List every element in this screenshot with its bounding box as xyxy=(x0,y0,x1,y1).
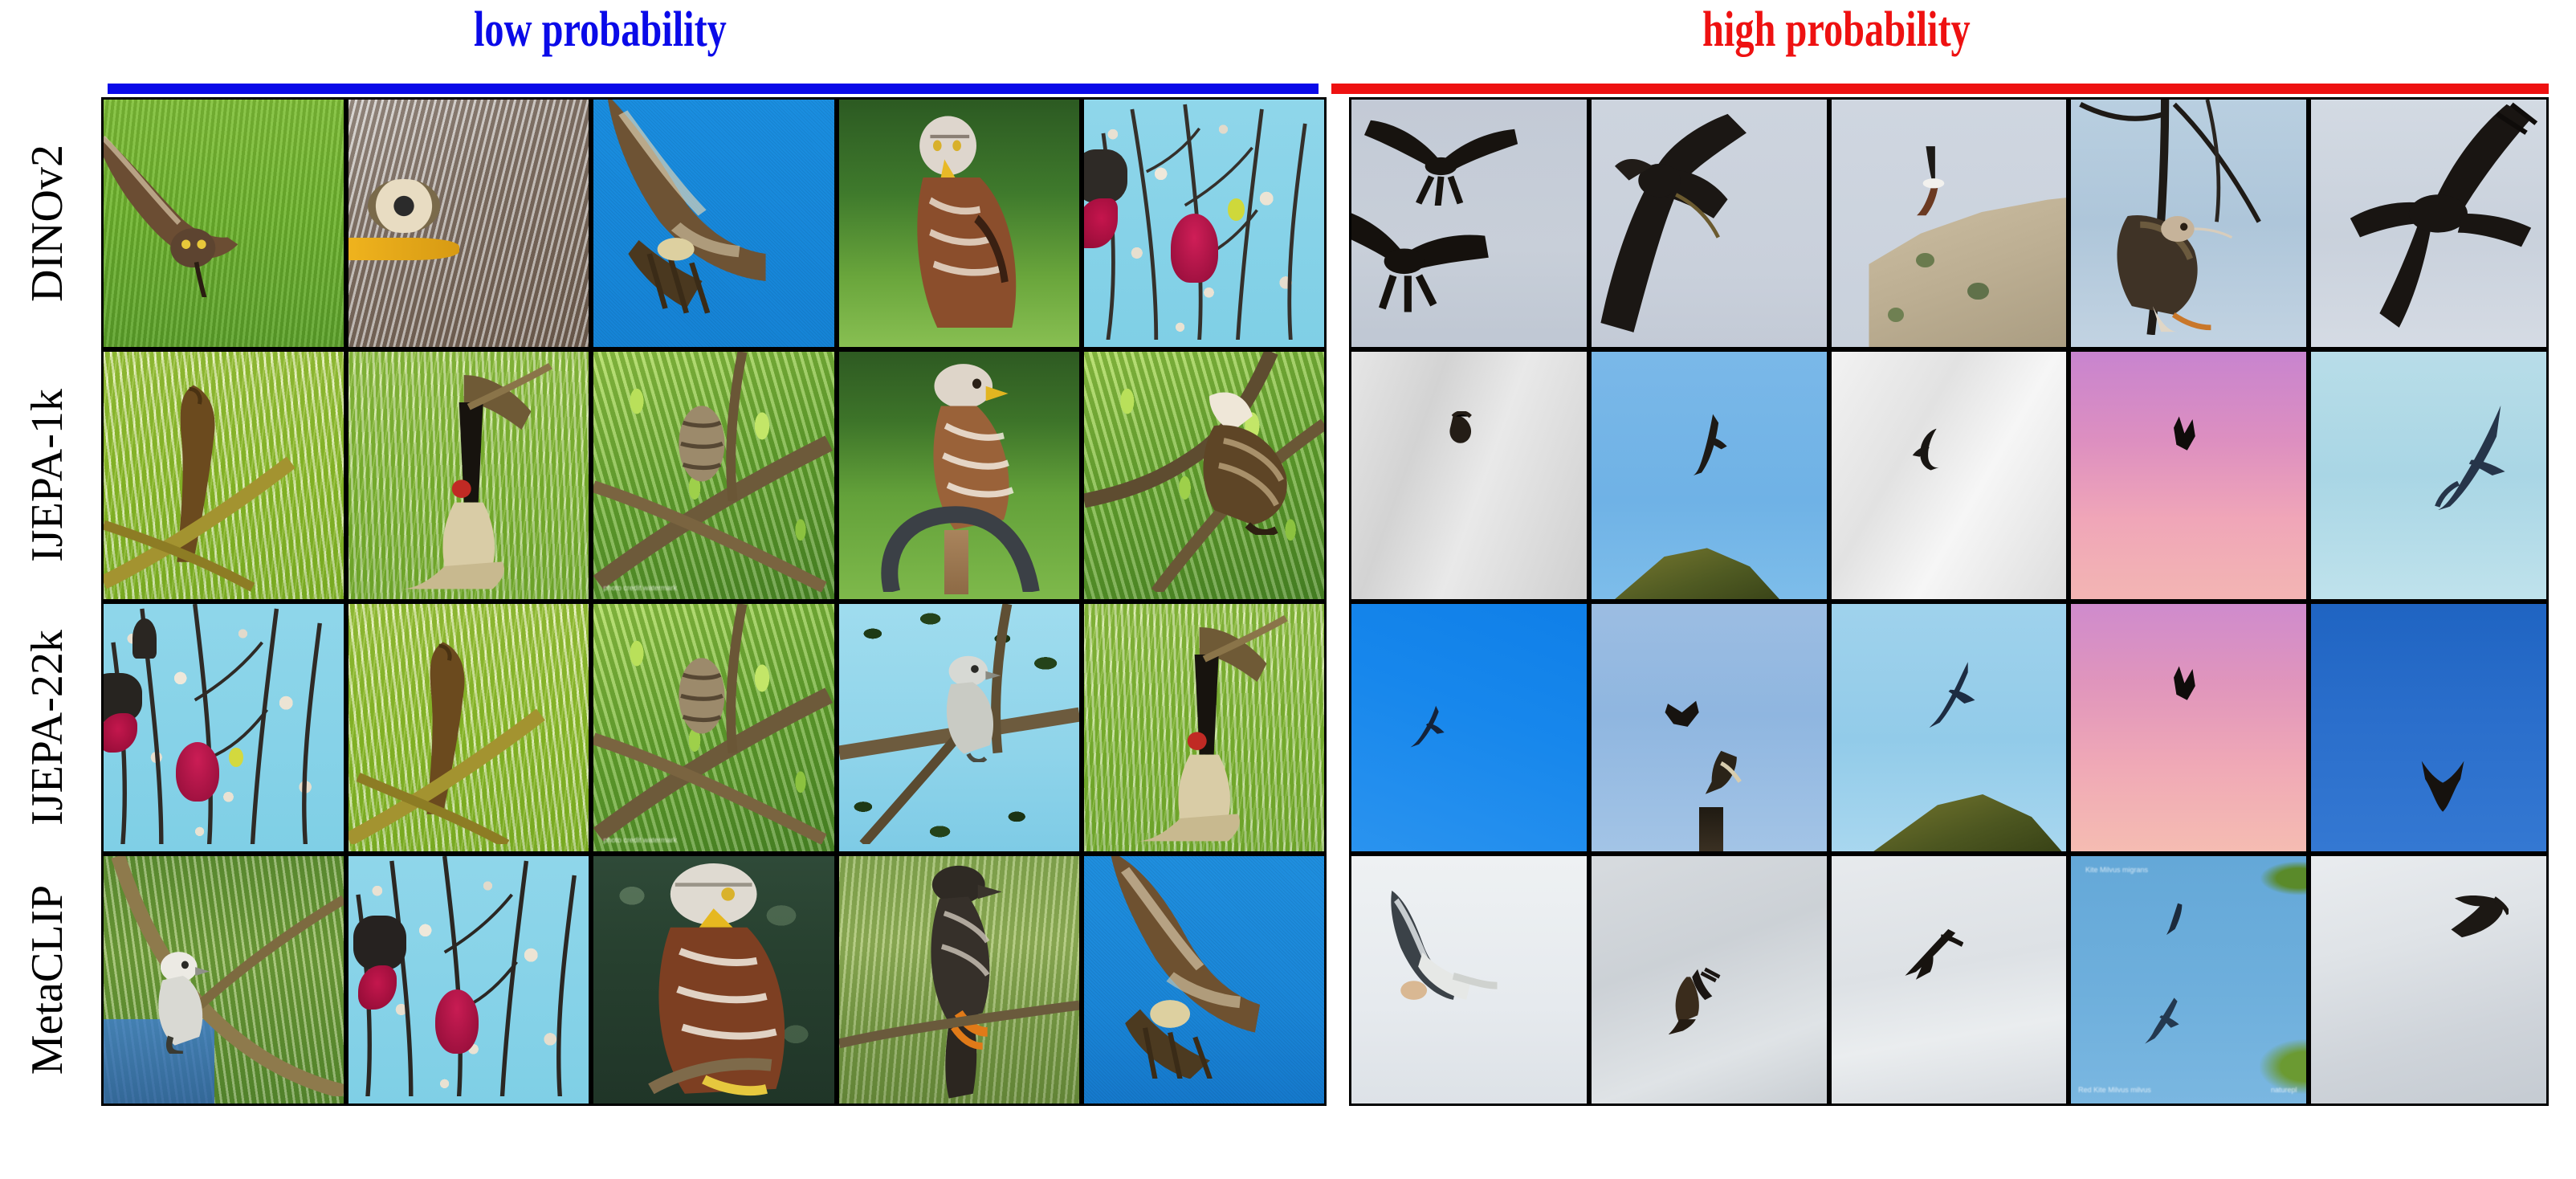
image-cell[interactable] xyxy=(591,854,836,1106)
image-cell[interactable] xyxy=(2069,97,2309,349)
image-grid: photo credit watermark xyxy=(101,97,2549,1107)
low-probability-bar xyxy=(108,84,1319,94)
image-cell[interactable] xyxy=(101,602,346,854)
image-cell[interactable] xyxy=(837,602,1082,854)
image-cell[interactable] xyxy=(1589,97,1829,349)
image-cell[interactable] xyxy=(2069,602,2309,854)
row-ijepa-22k-low-half: photo credit watermark xyxy=(101,602,1327,854)
image-cell[interactable] xyxy=(2309,854,2549,1106)
high-probability-title: high probability xyxy=(1702,5,1971,55)
image-cell[interactable] xyxy=(1082,97,1327,349)
image-cell[interactable] xyxy=(1829,854,2069,1106)
row-ijepa-22k-high-half xyxy=(1349,602,2549,854)
image-cell[interactable] xyxy=(1349,349,1589,602)
image-cell[interactable] xyxy=(2309,602,2549,854)
image-cell[interactable] xyxy=(2309,97,2549,349)
image-cell[interactable] xyxy=(1082,602,1327,854)
image-cell[interactable] xyxy=(101,854,346,1106)
image-cell[interactable] xyxy=(591,97,836,349)
row-label-text: IJEPA-1k xyxy=(25,389,70,562)
grid-row-ijepa-22k: photo credit watermark xyxy=(101,602,2549,854)
row-label-text: DINOv2 xyxy=(25,145,70,302)
image-watermark: photo credit watermark xyxy=(603,584,677,592)
image-cell[interactable] xyxy=(1589,602,1829,854)
image-cell[interactable] xyxy=(1589,349,1829,602)
row-ijepa-1k-high-half xyxy=(1349,349,2549,602)
row-metaclip-high-half: Kite Milvus migrans Red Kite Milvus milv… xyxy=(1349,854,2549,1106)
figure-root: low probability high probability DINOv2 … xyxy=(0,0,2576,1179)
image-cell[interactable] xyxy=(837,854,1082,1106)
row-label-text: IJEPA-22k xyxy=(25,630,70,826)
image-cell[interactable] xyxy=(837,349,1082,602)
image-cell[interactable] xyxy=(2309,349,2549,602)
image-cell[interactable] xyxy=(101,97,346,349)
image-cell[interactable] xyxy=(1349,97,1589,349)
image-cell[interactable] xyxy=(346,602,591,854)
row-dinov2-high-half xyxy=(1349,97,2549,349)
image-cell[interactable] xyxy=(1082,349,1327,602)
image-cell[interactable] xyxy=(2069,349,2309,602)
grid-row-ijepa-1k: photo credit watermark xyxy=(101,349,2549,602)
image-cell[interactable] xyxy=(1829,602,2069,854)
image-watermark-bottom-left: Red Kite Milvus milvus xyxy=(2078,1086,2151,1094)
row-label-ijepa-22k: IJEPA-22k xyxy=(0,602,95,854)
image-cell[interactable]: photo credit watermark xyxy=(591,349,836,602)
image-watermark: photo credit watermark xyxy=(603,836,677,844)
grid-row-metaclip: Kite Milvus migrans Red Kite Milvus milv… xyxy=(101,854,2549,1106)
row-label-dinov2: DINOv2 xyxy=(0,97,95,349)
row-dinov2-low-half xyxy=(101,97,1327,349)
image-cell[interactable] xyxy=(1349,854,1589,1106)
high-probability-bar xyxy=(1331,84,2549,94)
image-cell[interactable] xyxy=(346,854,591,1106)
image-cell[interactable] xyxy=(1829,97,2069,349)
row-metaclip-low-half xyxy=(101,854,1327,1106)
row-label-metaclip: MetaCLIP xyxy=(0,854,95,1106)
row-ijepa-1k-low-half: photo credit watermark xyxy=(101,349,1327,602)
image-cell[interactable] xyxy=(346,97,591,349)
image-cell[interactable] xyxy=(1082,854,1327,1106)
grid-row-dinov2 xyxy=(101,97,2549,349)
image-cell[interactable] xyxy=(1829,349,2069,602)
row-label-text: MetaCLIP xyxy=(25,885,70,1075)
image-cell[interactable] xyxy=(1589,854,1829,1106)
image-cell[interactable] xyxy=(1349,602,1589,854)
image-cell[interactable] xyxy=(837,97,1082,349)
image-cell[interactable] xyxy=(346,349,591,602)
image-watermark-top: Kite Milvus migrans xyxy=(2085,866,2148,874)
low-probability-title: low probability xyxy=(474,5,727,55)
image-cell[interactable]: photo credit watermark xyxy=(591,602,836,854)
image-cell[interactable] xyxy=(101,349,346,602)
image-watermark-bottom-right: naturepl xyxy=(2271,1086,2297,1094)
image-cell[interactable]: Kite Milvus migrans Red Kite Milvus milv… xyxy=(2069,854,2309,1106)
row-label-ijepa-1k: IJEPA-1k xyxy=(0,349,95,602)
